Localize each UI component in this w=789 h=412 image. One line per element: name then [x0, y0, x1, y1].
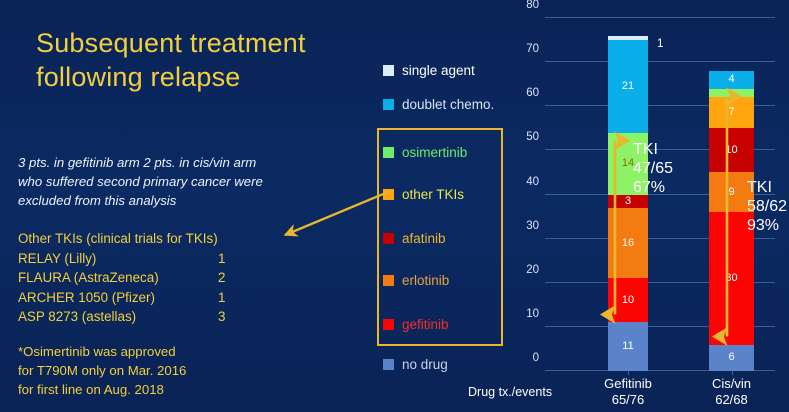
approval-note: *Osimertinib was approved for T790M only…: [18, 342, 348, 399]
trial-name: FLAURA (AstraZeneca): [18, 268, 159, 288]
trial-count: 1: [218, 249, 225, 269]
other-tkis-list: Other TKIs (clinical trials for TKIs) RE…: [18, 229, 338, 327]
other-tki-row: ARCHER 1050 (Pfizer) 1: [18, 288, 338, 308]
legend-swatch-icon: [383, 65, 394, 76]
legend-item-no-drug: no drug: [383, 357, 448, 372]
trial-count: 3: [218, 307, 225, 327]
legend-label: doublet chemo.: [402, 97, 494, 112]
other-tki-row: FLAURA (AstraZeneca) 2: [18, 268, 338, 288]
trial-name: ASP 8273 (astellas): [18, 307, 136, 327]
exclusion-note: 3 pts. in gefitinib arm 2 pts. in cis/vi…: [18, 153, 338, 210]
x-axis-title: Drug tx./events: [468, 385, 552, 399]
tki-highlight-box: [377, 128, 503, 346]
legend-label: single agent: [402, 63, 475, 78]
legend-label: no drug: [402, 357, 448, 372]
trial-count: 1: [218, 288, 225, 308]
other-tkis-header: Other TKIs (clinical trials for TKIs): [18, 229, 338, 249]
trial-name: RELAY (Lilly): [18, 249, 96, 269]
slide-canvas: Subsequent treatment following relapse 3…: [0, 0, 789, 412]
legend-swatch-icon: [383, 359, 394, 370]
legend-item-doublet-chemo-: doublet chemo.: [383, 97, 494, 112]
page-title: Subsequent treatment following relapse: [36, 26, 366, 94]
stacked-bar-chart: 0102030405060708011101631421630910741 Ge…: [515, 0, 789, 412]
trial-count: 2: [218, 268, 225, 288]
other-tki-row: ASP 8273 (astellas) 3: [18, 307, 338, 327]
other-tki-row: RELAY (Lilly) 1: [18, 249, 338, 269]
legend-item-single-agent: single agent: [383, 63, 475, 78]
tki-rate-annotation: TKI 58/62 93%: [747, 178, 787, 235]
trial-name: ARCHER 1050 (Pfizer): [18, 288, 155, 308]
legend-swatch-icon: [383, 99, 394, 110]
